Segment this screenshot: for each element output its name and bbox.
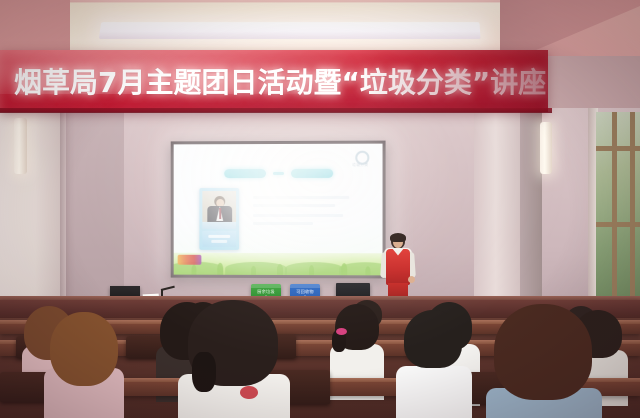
caption-line-1 <box>208 235 230 238</box>
list-item <box>396 310 472 418</box>
shirt-motif <box>240 386 258 399</box>
grass-blade <box>191 265 196 275</box>
wall-pillar-right-inner <box>520 108 542 308</box>
presenter-hair <box>390 233 406 242</box>
bin-label-line1: 厨余垃圾 <box>251 289 281 294</box>
attendee-ponytail <box>192 352 216 392</box>
slide-photo-caption <box>202 231 236 247</box>
grass-blade <box>217 263 223 275</box>
wall-sconce-icon <box>14 118 27 174</box>
window-mullion <box>630 112 635 308</box>
event-banner: 烟草局7月主题团日活动暨“垃圾分类”讲座 <box>0 50 548 112</box>
portrait-tie <box>219 208 221 219</box>
attendee-hair <box>494 304 592 400</box>
grass-blade <box>341 263 347 275</box>
bin-label-line1: 可回收物 <box>290 289 320 294</box>
grass-blade <box>309 265 314 275</box>
grass-blade <box>365 266 370 275</box>
slide-pill-left <box>224 169 266 178</box>
ceiling <box>0 0 640 56</box>
slide-portrait-photo <box>202 191 236 229</box>
presentation-slide: 垃圾分类 <box>174 144 383 276</box>
list-item <box>330 304 384 376</box>
window-mullion <box>612 112 617 308</box>
ceiling-edge-left <box>0 0 70 56</box>
list-item <box>178 300 290 418</box>
window-transom <box>596 222 640 227</box>
presenter-hand <box>408 276 415 283</box>
grass-blade <box>277 264 283 275</box>
recessed-ceiling-light-icon <box>99 22 481 39</box>
caption-line-2 <box>211 240 227 243</box>
window <box>596 112 640 308</box>
slide-color-badge <box>178 255 202 265</box>
wall-pillar-right <box>474 108 522 308</box>
wall-recess-left <box>66 110 124 306</box>
slide-body-line <box>253 222 313 225</box>
banner-title: 烟草局7月主题团日活动暨“垃圾分类”讲座 <box>14 61 546 101</box>
slide-photo-card <box>199 188 239 250</box>
slide-pill-row <box>218 168 338 179</box>
grass-hill <box>285 262 343 275</box>
bin-lid <box>251 284 281 288</box>
attendee-top <box>396 366 472 418</box>
projection-screen: 垃圾分类 <box>174 144 383 276</box>
slide-pill-connector <box>273 172 284 175</box>
slide-body-line <box>253 196 349 199</box>
banner-bottom-rail <box>0 108 552 113</box>
list-item <box>486 304 602 418</box>
slide-logo: 垃圾分类 <box>347 151 373 173</box>
audience-area <box>0 318 640 418</box>
attendee-hair <box>50 312 118 386</box>
window-transom <box>596 146 640 151</box>
bin-lid <box>290 284 320 288</box>
slide-pill-right <box>290 169 332 178</box>
portrait-desk <box>202 222 236 229</box>
slide-body-line <box>253 214 343 217</box>
slide-body-line <box>253 204 335 207</box>
list-item <box>44 312 124 418</box>
projection-screen-frame: 垃圾分类 <box>171 141 386 279</box>
slide-logo-label: 垃圾分类 <box>347 163 373 168</box>
wall-sconce-icon <box>540 122 552 174</box>
wall-pillar-left <box>0 108 64 314</box>
grass-blade <box>251 266 256 275</box>
attendee-hair <box>404 310 462 368</box>
hair-tie <box>336 328 347 335</box>
wall-pillar-left-edge <box>60 108 66 314</box>
slide-grass-band <box>174 253 383 276</box>
conference-room-photo: 烟草局7月主题团日活动暨“垃圾分类”讲座 垃圾分类 <box>0 0 640 418</box>
